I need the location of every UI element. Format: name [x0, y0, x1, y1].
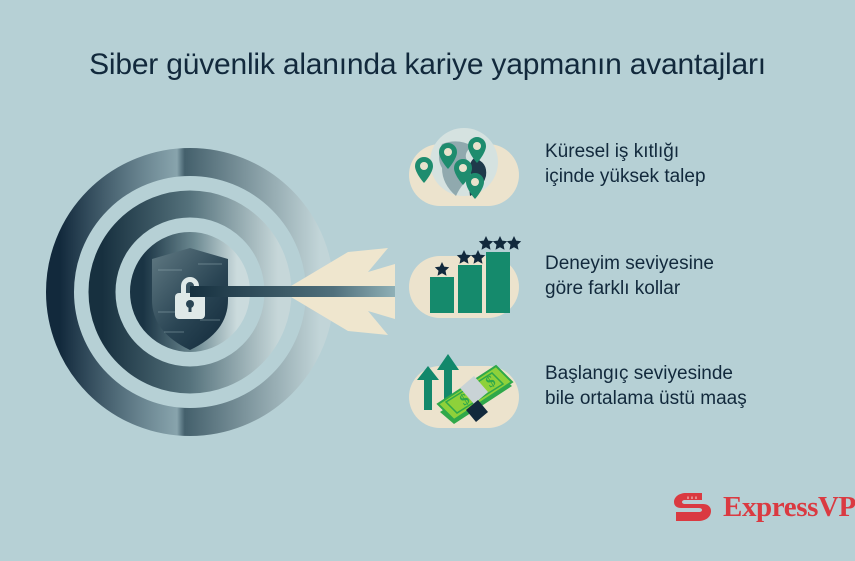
target-with-arrow-illustration: [48, 160, 408, 425]
page-title: Siber güvenlik alanında kariye yapmanın …: [0, 48, 855, 82]
benefit-item-above-average-salary: $ $ Başlangıç seviyesinde bile ortalama …: [402, 340, 842, 432]
benefit-item-global-demand: Küresel iş kıtlığı içinde yüksek talep: [402, 118, 842, 210]
icon-plate: $ $: [402, 340, 527, 432]
icon-plate: [402, 118, 527, 210]
benefit-text: Küresel iş kıtlığı içinde yüksek talep: [545, 139, 706, 189]
expressvpn-logo[interactable]: ExpressVPN: [672, 487, 855, 527]
benefit-text: Başlangıç seviyesinde bile ortalama üstü…: [545, 361, 747, 411]
benefit-text: Deneyim seviyesine göre farklı kollar: [545, 251, 714, 301]
expressvpn-logo-text: ExpressVPN: [723, 493, 855, 522]
target-svg: [48, 160, 408, 425]
bar-2: [458, 265, 482, 313]
infographic-poster: Siber güvenlik alanında kariye yapmanın …: [0, 0, 855, 561]
money-stack-with-up-arrows-icon: $ $: [402, 340, 527, 432]
bar-chart-with-stars-icon: [402, 230, 527, 322]
bar-3: [486, 252, 510, 313]
benefit-list: Küresel iş kıtlığı içinde yüksek talep: [402, 118, 842, 448]
benefit-item-career-levels: Deneyim seviyesine göre farklı kollar: [402, 230, 842, 322]
globe-with-map-pins-icon: [402, 118, 527, 210]
expressvpn-logo-mark-icon: [672, 490, 714, 524]
bar-1: [430, 277, 454, 313]
arrow-shaft: [190, 286, 395, 297]
icon-plate: [402, 230, 527, 322]
